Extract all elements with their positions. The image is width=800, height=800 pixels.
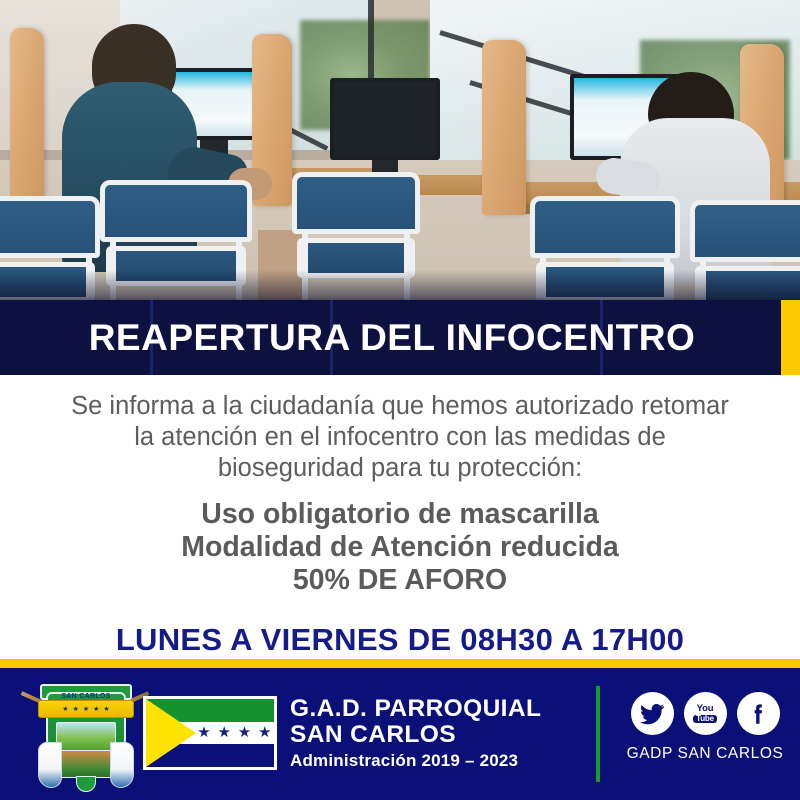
chair-back xyxy=(0,196,100,258)
coat-star-4: ★ xyxy=(93,705,99,713)
coat-base xyxy=(76,776,96,792)
coat-landscape-upper xyxy=(56,722,116,752)
coat-name-label: SAN CARLOS xyxy=(32,693,140,700)
chair-back xyxy=(292,172,420,234)
flag-stars: ★ ★ ★ ★ xyxy=(197,722,271,745)
chair-back xyxy=(690,200,800,262)
measure-item-3: 50% DE AFORO xyxy=(40,564,760,597)
coat-ribbon-left xyxy=(38,742,62,788)
yellow-divider xyxy=(0,659,800,668)
youtube-icon[interactable]: You Tube xyxy=(684,692,727,735)
youtube-label-bottom: Tube xyxy=(693,715,717,723)
coat-of-arms-icon: ★ ★ ★ ★ ★ SAN CARLOS xyxy=(32,676,140,794)
coat-star-5: ★ xyxy=(103,705,109,713)
facebook-icon[interactable] xyxy=(737,692,780,735)
measure-item-2: Modalidad de Atención reducida xyxy=(40,531,760,564)
measures-list: Uso obligatorio de mascarilla Modalidad … xyxy=(0,484,800,597)
page-title: REAPERTURA DEL INFOCENTRO xyxy=(0,300,800,375)
coat-star-2: ★ xyxy=(73,705,79,713)
coat-ribbon-right xyxy=(110,742,134,788)
youtube-label-top: You xyxy=(697,704,714,714)
monitor-mid-screen xyxy=(334,82,436,156)
twitter-icon[interactable] xyxy=(631,692,674,735)
footer-divider xyxy=(596,686,600,782)
coat-star-1: ★ xyxy=(62,705,68,713)
banner-accent-bar xyxy=(781,300,800,375)
carrel-divider-1 xyxy=(10,28,44,203)
intro-paragraph: Se informa a la ciudadanía que hemos aut… xyxy=(0,375,800,484)
content-area: Se informa a la ciudadanía que hemos aut… xyxy=(0,375,800,660)
social-handle: GADP SAN CARLOS xyxy=(620,745,790,763)
organization-block: G.A.D. PARROQUIAL SAN CARLOS Administrac… xyxy=(290,696,580,771)
org-line-1: G.A.D. PARROQUIAL xyxy=(290,696,580,722)
flag-star-3: ★ xyxy=(238,725,251,740)
title-banner: REAPERTURA DEL INFOCENTRO xyxy=(0,300,800,375)
coat-landscape-lower xyxy=(56,750,116,778)
social-block: You Tube GADP SAN CARLOS xyxy=(620,692,790,763)
footer: ★ ★ ★ ★ ★ SAN CARLOS ★ ★ ★ ★ xyxy=(0,668,800,800)
coat-star-3: ★ xyxy=(83,705,89,713)
social-icon-row: You Tube xyxy=(620,692,790,735)
flag-star-1: ★ xyxy=(197,725,210,740)
org-line-2: SAN CARLOS xyxy=(290,722,580,748)
chair-back xyxy=(100,180,252,242)
carrel-divider-3 xyxy=(482,40,526,215)
coat-banner: ★ ★ ★ ★ ★ xyxy=(38,700,134,718)
schedule-text: LUNES A VIERNES DE 08H30 A 17H00 xyxy=(0,597,800,658)
org-administration-period: Administración 2019 – 2023 xyxy=(290,751,580,771)
poster: REAPERTURA DEL INFOCENTRO Se informa a l… xyxy=(0,0,800,800)
flag-star-4: ★ xyxy=(258,725,271,740)
measure-item-1: Uso obligatorio de mascarilla xyxy=(40,498,760,531)
flag-star-2: ★ xyxy=(217,725,230,740)
chair-back xyxy=(530,196,680,258)
flag-triangle xyxy=(146,699,196,767)
infocentro-photo xyxy=(0,0,800,305)
parish-flag-icon: ★ ★ ★ ★ xyxy=(143,696,277,770)
